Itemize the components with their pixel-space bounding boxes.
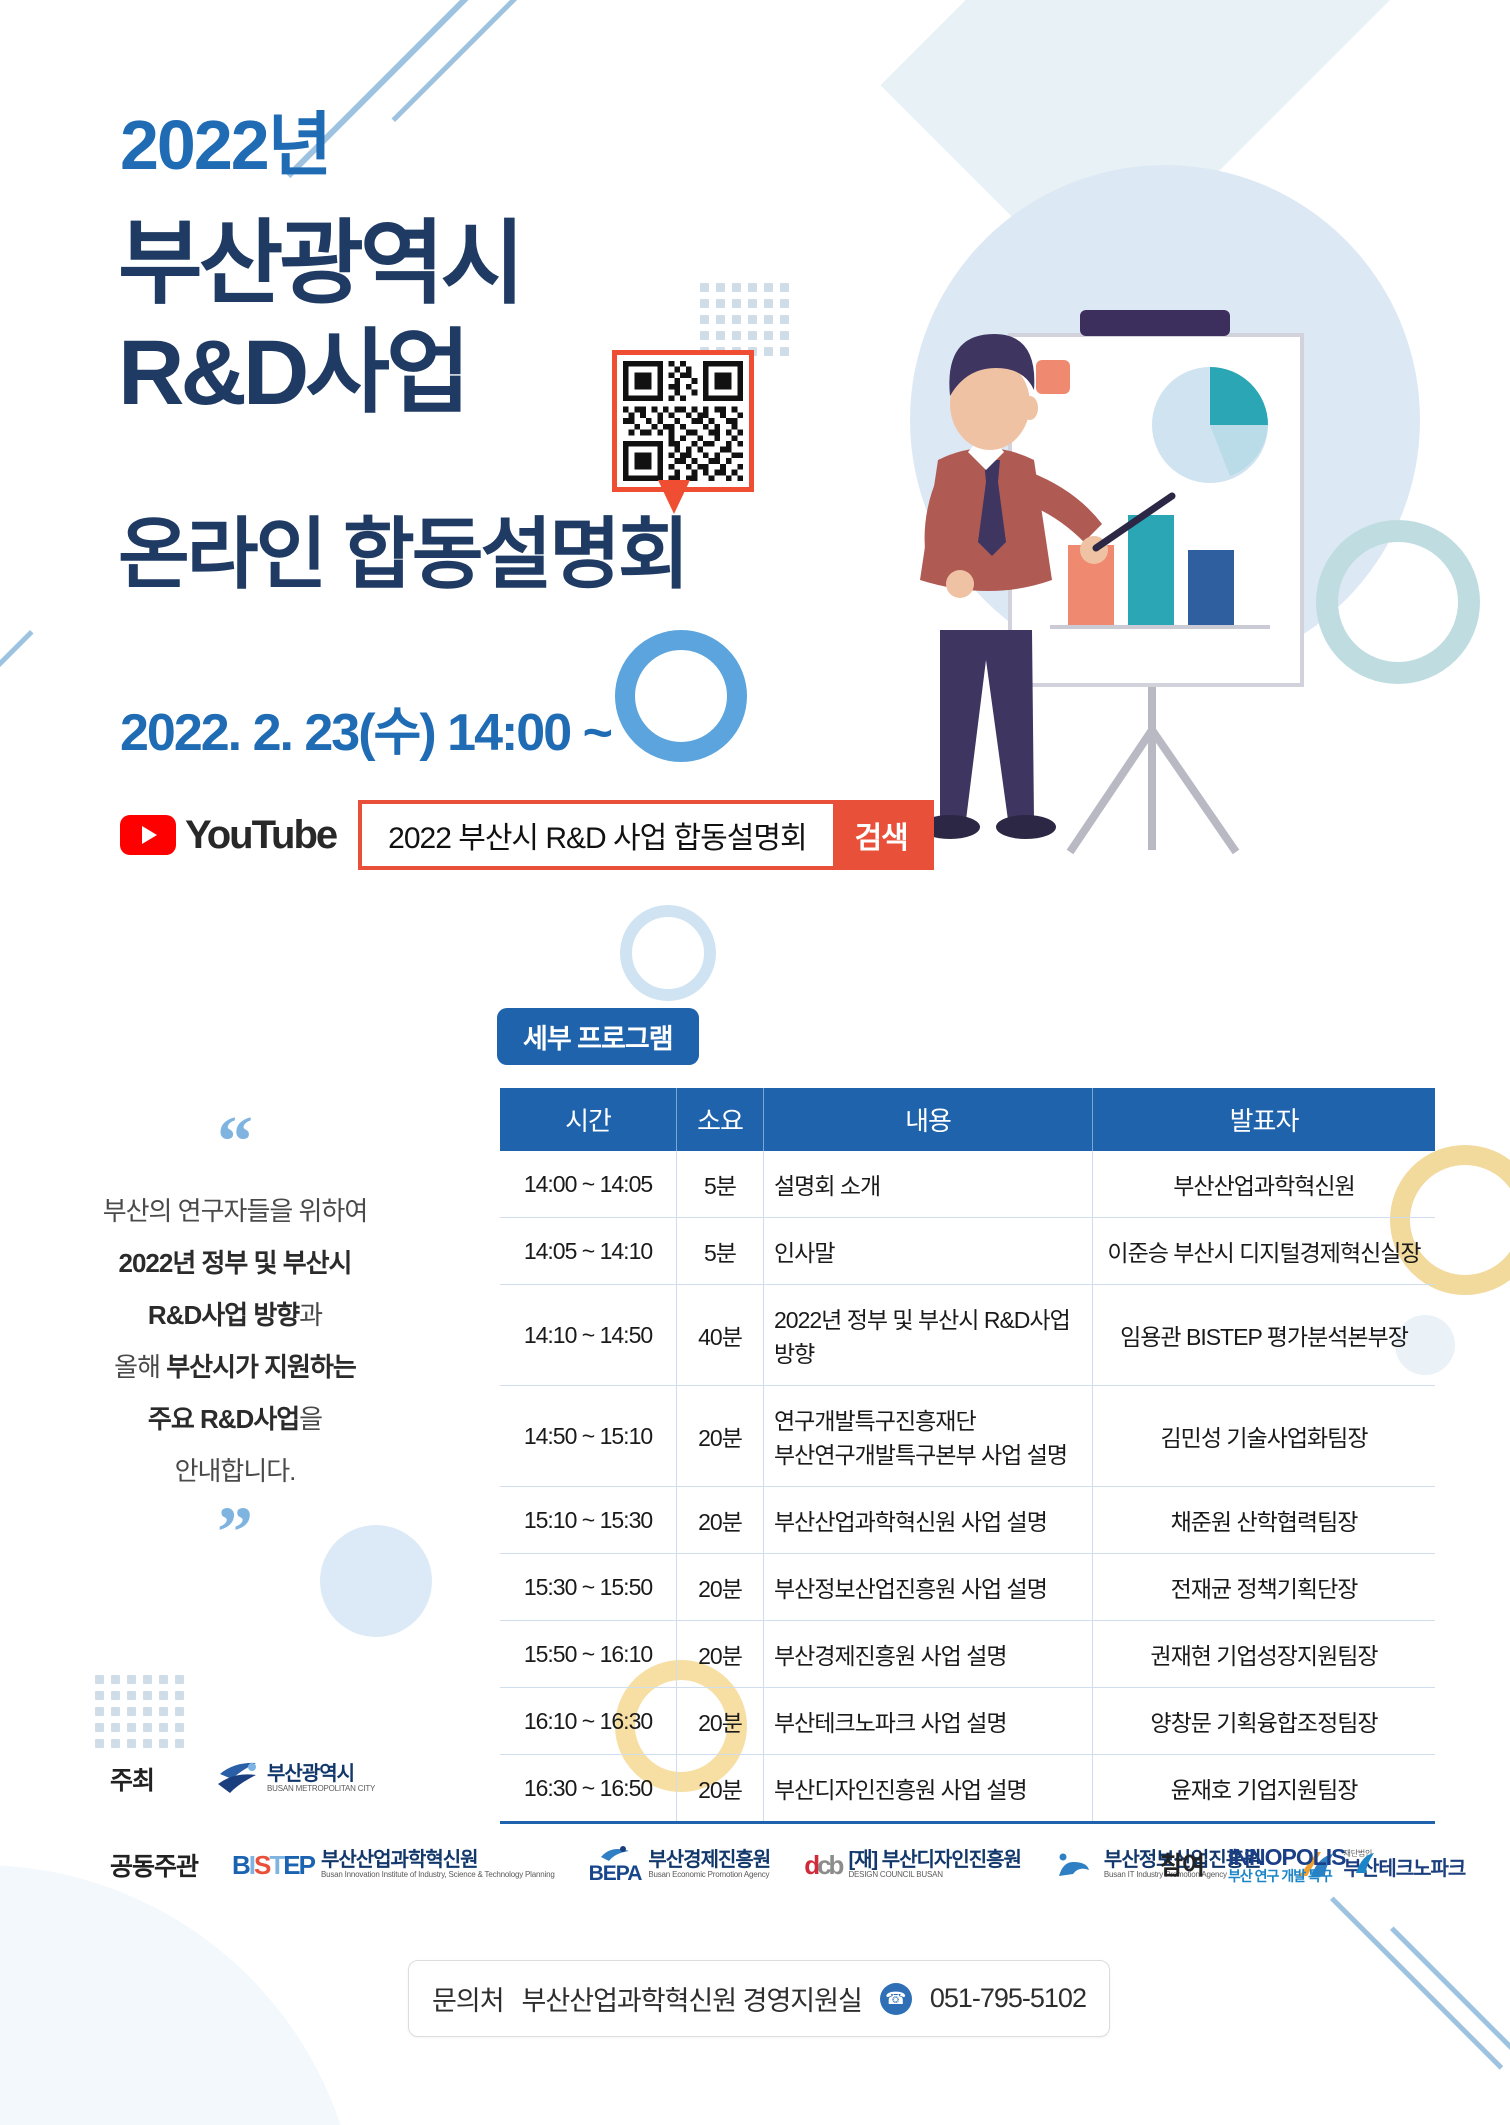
decorative-top-right-band [880,0,1510,297]
cell-time: 14:05 ~ 14:10 [500,1218,677,1285]
cell-content: 부산경제진흥원 사업 설명 [764,1621,1093,1688]
busan-it-logo-icon [1055,1852,1097,1878]
qr-code-box[interactable] [612,350,754,492]
cell-duration: 40분 [677,1285,764,1386]
cell-speaker: 임용관 BISTEP 평가분석본부장 [1093,1285,1436,1386]
table-row: 15:10 ~ 15:3020분부산산업과학혁신원 사업 설명채준원 산학협력팀… [500,1487,1435,1554]
decorative-dot-grid-bottom [95,1675,184,1748]
event-datetime: 2022. 2. 23(수) 14:00 ~ [120,690,611,765]
participant-row: 참여 INNOPOLIS 부산 연구 개발 특구 [1160,1845,1377,1884]
innopolis-logo-icon [1353,1851,1377,1877]
cell-time: 14:10 ~ 14:50 [500,1285,677,1386]
coorganizer-label: 공동주관 [110,1847,198,1883]
host-row: 주최 부산광역시 BUSAN METROPOLITAN CITY [110,1760,375,1798]
title-line-2: R&D사업 [118,319,521,428]
table-row: 14:05 ~ 14:105분인사말이준승 부산시 디지털경제혁신실장 [500,1218,1435,1285]
decorative-line-6 [1390,1926,1510,2071]
cell-duration: 20분 [677,1688,764,1755]
cell-speaker: 윤재호 기업지원팀장 [1093,1755,1436,1823]
table-header-row: 시간 소요 내용 발표자 [500,1088,1435,1151]
contact-org: 부산산업과학혁신원 경영지원실 [522,1979,862,2018]
column-header-content: 내용 [764,1088,1093,1151]
cell-duration: 20분 [677,1487,764,1554]
column-header-speaker: 발표자 [1093,1088,1436,1151]
cell-content: 설명회 소개 [764,1151,1093,1218]
decorative-line-3 [0,630,34,796]
decorative-bottom-right-band [1478,1718,1510,2125]
cell-time: 14:00 ~ 14:05 [500,1151,677,1218]
innopolis-sub: 부산 연구 개발 특구 [1228,1869,1346,1884]
cell-speaker: 양창문 기획융합조정팀장 [1093,1688,1436,1755]
cell-duration: 20분 [677,1386,764,1487]
cell-speaker: 채준원 산학협력팀장 [1093,1487,1436,1554]
contact-label: 문의처 [432,1979,504,2018]
bistep-logo-icon: BISTEP [232,1850,314,1881]
decorative-line-2 [392,0,544,122]
table-row: 14:00 ~ 14:055분설명회 소개부산산업과학혁신원 [500,1151,1435,1218]
presentation-illustration [880,300,1440,880]
cell-time: 15:30 ~ 15:50 [500,1554,677,1621]
dcb-name-kr: [재] 부산디자인진흥원 [848,1850,1020,1871]
program-table-wrap: 시간 소요 내용 발표자 14:00 ~ 14:055분설명회 소개부산산업과학… [500,1088,1400,1824]
table-row: 16:30 ~ 16:5020분부산디자인진흥원 사업 설명윤재호 기업지원팀장 [500,1755,1435,1823]
design-council-busan-logo-icon: dcb [804,1850,841,1881]
busan-city-logo-icon [216,1760,260,1798]
decorative-dot-grid-top [700,283,789,356]
innopolis-logo: INNOPOLIS 부산 연구 개발 특구 [1228,1845,1377,1884]
quote-block: “ 부산의 연구자들을 위하여 2022년 정부 및 부산시 R&D사업 방향과… [70,1120,400,1554]
bepa-mark: BEPA [589,1863,642,1885]
youtube-brand-label: YouTube [185,813,336,858]
cell-content: 연구개발특구진흥재단부산연구개발특구본부 사업 설명 [764,1386,1093,1487]
cell-content: 부산정보산업진흥원 사업 설명 [764,1554,1093,1621]
cell-speaker: 부산산업과학혁신원 [1093,1151,1436,1218]
cell-content: 부산산업과학혁신원 사업 설명 [764,1487,1093,1554]
youtube-search-row: YouTube 2022 부산시 R&D 사업 합동설명회 검색 [120,800,934,870]
cell-time: 14:50 ~ 15:10 [500,1386,677,1487]
search-input[interactable]: 2022 부산시 R&D 사업 합동설명회 [362,804,832,866]
participant-label: 참여 [1160,1846,1204,1882]
quote-line: 주요 R&D사업을 [70,1393,400,1445]
youtube-search-box[interactable]: 2022 부산시 R&D 사업 합동설명회 검색 [358,800,934,870]
qr-callout[interactable] [612,350,754,492]
cell-content: 부산디자인진흥원 사업 설명 [764,1755,1093,1823]
design-council-busan-logo: dcb [재] 부산디자인진흥원 DESIGN COUNCIL BUSAN [804,1850,1021,1881]
contact-phone: 051-795-5102 [930,1983,1086,2014]
column-header-duration: 소요 [677,1088,764,1151]
cell-duration: 5분 [677,1218,764,1285]
cell-duration: 20분 [677,1755,764,1823]
cell-content: 2022년 정부 및 부산시 R&D사업 방향 [764,1285,1093,1386]
qr-callout-tail [658,480,690,514]
cell-speaker: 이준승 부산시 디지털경제혁신실장 [1093,1218,1436,1285]
cell-time: 16:30 ~ 16:50 [500,1755,677,1823]
table-row: 14:10 ~ 14:5040분2022년 정부 및 부산시 R&D사업 방향임… [500,1285,1435,1386]
host-label: 주최 [110,1761,154,1797]
table-row: 16:10 ~ 16:3020분부산테크노파크 사업 설명양창문 기획융합조정팀… [500,1688,1435,1755]
table-row: 15:50 ~ 16:1020분부산경제진흥원 사업 설명권재현 기업성장지원팀… [500,1621,1435,1688]
contact-bar: 문의처 부산산업과학혁신원 경영지원실 ☎ 051-795-5102 [408,1960,1110,2037]
poster-year: 2022년 [120,110,330,180]
cell-time: 15:10 ~ 15:30 [500,1487,677,1554]
quote-line: 2022년 정부 및 부산시 [70,1237,400,1289]
program-table: 시간 소요 내용 발표자 14:00 ~ 14:055분설명회 소개부산산업과학… [500,1088,1435,1824]
youtube-logo[interactable]: YouTube [120,813,336,858]
bistep-name-kr: 부산산업과학혁신원 [321,1850,555,1871]
innopolis-name: INNOPOLIS [1228,1845,1346,1869]
quote-line: 안내합니다. [70,1445,400,1497]
page-title: 부산광역시 R&D사업 [118,210,521,427]
bistep-logo: BISTEP 부산산업과학혁신원 Busan Innovation Instit… [232,1850,555,1881]
bepa-name-kr: 부산경제진흥원 [648,1850,770,1871]
host-name-en: BUSAN METROPOLITAN CITY [267,1785,375,1793]
host-name-kr: 부산광역시 [267,1764,375,1785]
quote-line: R&D사업 방향과 [70,1289,400,1341]
bistep-name-en: Busan Innovation Institute of Industry, … [321,1871,555,1879]
cell-speaker: 전재균 정책기획단장 [1093,1554,1436,1621]
bepa-logo: BEPA 부산경제진흥원 Busan Economic Promotion Ag… [589,1845,771,1885]
cell-duration: 5분 [677,1151,764,1218]
decorative-line-5 [1330,1896,1503,2069]
quote-open-icon: “ [70,1120,400,1163]
bepa-name-en: Busan Economic Promotion Agency [648,1871,770,1879]
cell-time: 16:10 ~ 16:30 [500,1688,677,1755]
bepa-logo-icon [599,1845,631,1863]
cell-content: 부산테크노파크 사업 설명 [764,1688,1093,1755]
poster-root: 2022년 부산광역시 R&D사업 온라인 합동설명회 2022. 2. 23(… [0,0,1510,2125]
decorative-ring-lightblue [620,905,716,1001]
search-button[interactable]: 검색 [833,804,930,866]
youtube-play-icon [120,815,176,855]
cell-duration: 20분 [677,1621,764,1688]
quote-text: 부산의 연구자들을 위하여 2022년 정부 및 부산시 R&D사업 방향과 올… [70,1185,400,1497]
cell-speaker: 권재현 기업성장지원팀장 [1093,1621,1436,1688]
decorative-bottom-left-blob [0,1865,360,2125]
quote-line: 부산의 연구자들을 위하여 [70,1185,400,1237]
table-row: 15:30 ~ 15:5020분부산정보산업진흥원 사업 설명전재균 정책기획단… [500,1554,1435,1621]
cell-content: 인사말 [764,1218,1093,1285]
phone-icon: ☎ [880,1983,912,2015]
qr-code-icon [623,361,743,481]
busan-city-logo: 부산광역시 BUSAN METROPOLITAN CITY [216,1760,375,1798]
decorative-ring-blue [615,630,747,762]
program-badge: 세부 프로그램 [497,1008,699,1065]
cell-speaker: 김민성 기술사업화팀장 [1093,1386,1436,1487]
cell-time: 15:50 ~ 16:10 [500,1621,677,1688]
quote-close-icon: ” [70,1511,400,1554]
title-line-1: 부산광역시 [118,210,521,319]
table-row: 14:50 ~ 15:1020분연구개발특구진흥재단부산연구개발특구본부 사업 … [500,1386,1435,1487]
dcb-name-en: DESIGN COUNCIL BUSAN [848,1871,1020,1879]
cell-duration: 20분 [677,1554,764,1621]
quote-line: 올해 부산시가 지원하는 [70,1341,400,1393]
column-header-time: 시간 [500,1088,677,1151]
poster-subtitle: 온라인 합동설명회 [118,515,687,593]
